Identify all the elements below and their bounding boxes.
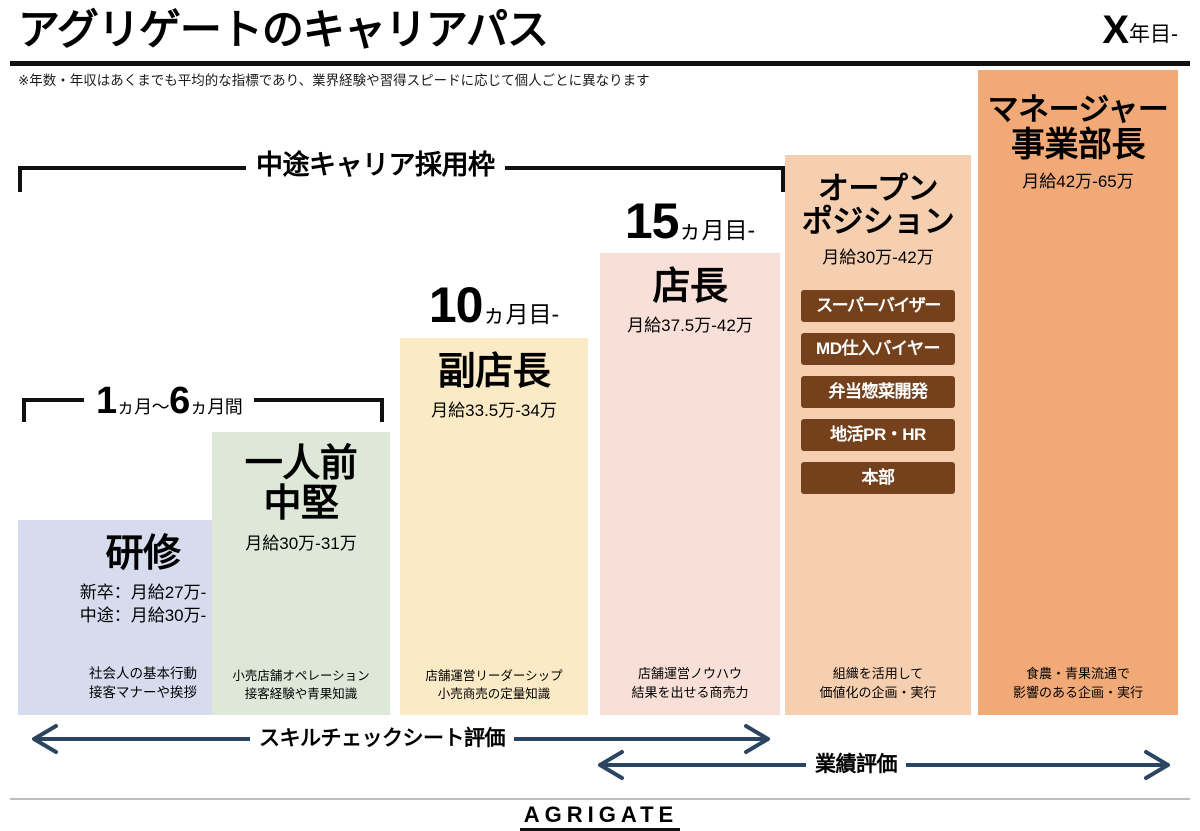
stage-duration-unit-4: ヵ月目- xyxy=(678,217,755,243)
year-marker: X年目- xyxy=(1102,10,1178,50)
badge-local-pr-hr[interactable]: 地活PR・HR xyxy=(801,419,955,451)
open-position-badge-list: スーパーバイザー MD仕入バイヤー 弁当惣菜開発 地活PR・HR 本部 xyxy=(789,290,967,494)
badge-md-buyer[interactable]: MD仕入バイヤー xyxy=(801,333,955,365)
badge-headquarters[interactable]: 本部 xyxy=(801,462,955,494)
disclaimer-note: ※年数・年収はあくまでも平均的な指標であり、業界経験や習得スピードに応じて個人ご… xyxy=(18,72,650,90)
bracket-midcareer-label: 中途キャリア採用枠 xyxy=(246,147,505,183)
skills-description-assistant-manager: 店舗運営リーダーシップ 小売商売の定量知識 xyxy=(400,667,588,703)
badge-bento-deli-development[interactable]: 弁当惣菜開発 xyxy=(801,376,955,408)
role-title-manager-1: マネージャー xyxy=(982,94,1174,127)
role-title-manager-2: 事業部長 xyxy=(982,127,1174,163)
role-title-open-position-1: オープン xyxy=(789,173,967,206)
pay-range-open-position: 月給30万-42万 xyxy=(789,247,967,270)
role-title-open-position-2: ポジション xyxy=(789,206,967,239)
pay-range-assistant-manager: 月給33.5万-34万 xyxy=(404,400,584,423)
stage-duration-value-3: 10 xyxy=(429,277,483,333)
agrigate-logo: AGRIGATE xyxy=(0,802,1200,827)
skills-description-manager: 食農・青果流通で 影響のある企画・実行 xyxy=(978,665,1178,703)
bracket-midcareer-hiring: 中途キャリア採用枠 xyxy=(18,166,785,196)
footer-divider xyxy=(10,798,1190,800)
bracket-duration: 1ヵ月〜6ヵ月間 xyxy=(22,398,384,426)
header-divider xyxy=(10,61,1190,66)
stage-duration-unit-3: ヵ月目- xyxy=(482,301,559,327)
bracket-duration-label: 1ヵ月〜6ヵ月間 xyxy=(84,376,254,427)
skills-description-store-manager: 店舗運営ノウハウ 結果を出せる商売力 xyxy=(600,665,780,703)
pay-range-standalone: 月給30万-31万 xyxy=(216,533,386,556)
year-marker-value: X xyxy=(1102,8,1129,52)
skills-description-open-position: 組織を活用して 価値化の企画・実行 xyxy=(785,665,971,703)
stage-column-standalone: 一人前 中堅 月給30万-31万 小売店舗オペレーション 接客経験や青果知識 xyxy=(212,432,390,715)
stage-column-manager: マネージャー 事業部長 月給42万-65万 食農・青果流通で 影響のある企画・実… xyxy=(978,70,1178,715)
year-marker-unit: 年目- xyxy=(1129,23,1178,46)
stage-column-assistant-manager: 副店長 月給33.5万-34万 店舗運営リーダーシップ 小売商売の定量知識 xyxy=(400,338,588,715)
stage-duration-assistant-manager: 10ヵ月目- xyxy=(400,280,588,330)
badge-supervisor[interactable]: スーパーバイザー xyxy=(801,290,955,322)
stage-column-open-position: オープン ポジション 月給30万-42万 スーパーバイザー MD仕入バイヤー 弁… xyxy=(785,155,971,715)
role-title-store-manager: 店長 xyxy=(604,267,776,307)
career-path-infographic: アグリゲートのキャリアパス X年目- ※年数・年収はあくまでも平均的な指標であり… xyxy=(0,0,1200,831)
role-title-standalone-1: 一人前 xyxy=(216,444,386,484)
role-title-standalone-2: 中堅 xyxy=(216,484,386,524)
skills-description-standalone: 小売店舗オペレーション 接客経験や青果知識 xyxy=(212,667,390,703)
pay-range-store-manager: 月給37.5万-42万 xyxy=(604,315,776,338)
evaluation-label-performance: 業績評価 xyxy=(806,748,906,782)
pay-range-manager: 月給42万-65万 xyxy=(982,171,1174,194)
stage-duration-value-4: 15 xyxy=(625,193,679,249)
page-title: アグリゲートのキャリアパス xyxy=(18,6,548,54)
role-title-assistant-manager: 副店長 xyxy=(404,352,584,392)
stage-column-store-manager: 店長 月給37.5万-42万 店舗運営ノウハウ 結果を出せる商売力 xyxy=(600,253,780,715)
evaluation-label-skill-check: スキルチェックシート評価 xyxy=(250,722,514,756)
stage-duration-store-manager: 15ヵ月目- xyxy=(600,196,780,246)
evaluation-arrow-performance: 業績評価 xyxy=(588,748,1180,782)
